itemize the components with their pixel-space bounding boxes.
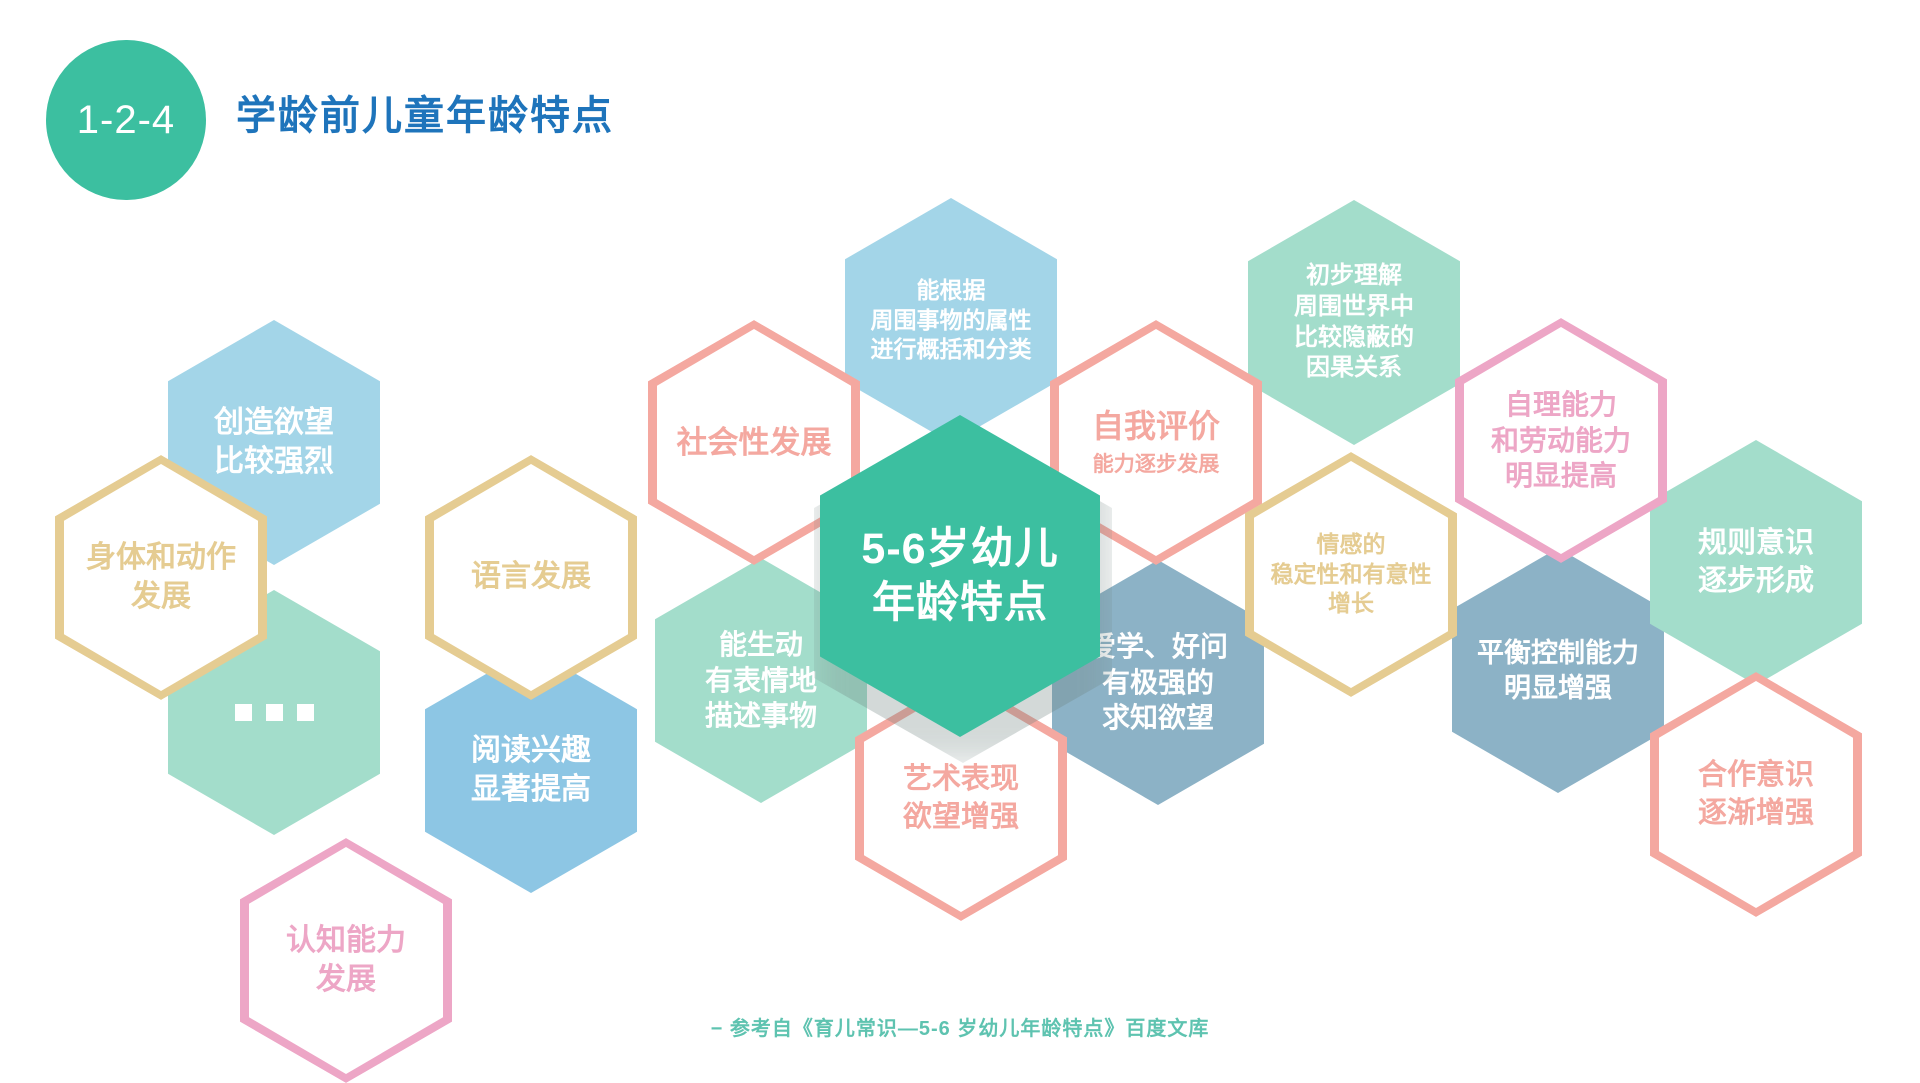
hexagon-label: 合作意识逐渐增强 [1650, 757, 1862, 831]
hexagon-label-line: 描述事物 [705, 700, 817, 731]
center-hexagon-label: 5-6岁幼儿 年龄特点 [861, 522, 1058, 630]
hexagon-label: 身体和动作发展 [55, 539, 267, 616]
hexagon-label-line: 规则意识 [1698, 527, 1814, 559]
hexagon-label-line: 有极强的 [1102, 667, 1214, 698]
hexagon-label-line: 明显增强 [1504, 673, 1612, 703]
hexagon-label-line: 比较强烈 [214, 445, 334, 478]
hexagon-label-line: 能根据 [917, 277, 986, 303]
hexagon-label-line: 有表情地 [705, 665, 817, 696]
hexagon-label-line: 艺术表现 [903, 763, 1019, 795]
hexagon-label-line: 情感的 [1317, 531, 1386, 557]
hexagon-emotional-stability-growth[interactable]: 情感的稳定性和有意性增长 [1245, 452, 1457, 697]
hexagon-label: 初步理解周围世界中比较隐蔽的因果关系 [1248, 261, 1460, 384]
hexagon-understand-hidden-causality[interactable]: 初步理解周围世界中比较隐蔽的因果关系 [1248, 200, 1460, 445]
hexagon-label: 平衡控制能力明显增强 [1452, 636, 1664, 705]
ellipsis-dots-icon [176, 704, 372, 721]
hexagon-label-line: 周围事物的属性 [871, 307, 1032, 333]
hexagon-label-line: 创造欲望 [214, 406, 334, 439]
hexagon-language-development[interactable]: 语言发展 [425, 455, 637, 700]
hexagon-label-line: 自理能力 [1505, 389, 1617, 420]
hexagon-cooperation-awareness-growing[interactable]: 合作意识逐渐增强 [1650, 672, 1862, 917]
center-line-2: 年龄特点 [872, 579, 1048, 627]
hexagon-rule-awareness-forming[interactable]: 规则意识逐步形成 [1650, 440, 1862, 685]
hexagon-label: 社会性发展 [648, 423, 860, 463]
hexagon-label-line: 逐步形成 [1698, 565, 1814, 597]
hexagon-label-line: 自我评价 [1092, 408, 1220, 444]
hexagon-label: 自我评价能力逐步发展 [1050, 406, 1262, 478]
hexagon-cognitive-ability-development[interactable]: 认知能力发展 [240, 838, 452, 1083]
hexagon-label: 语言发展 [425, 558, 637, 596]
hexagon-label-line: 认知能力 [286, 924, 406, 957]
hexagon-generalize-classify-attributes[interactable]: 能根据周围事物的属性进行概括和分类 [845, 198, 1057, 443]
hexagon-label-line: 发展 [316, 963, 376, 996]
hexagon-label: 创造欲望比较强烈 [168, 404, 380, 481]
hexagon-self-care-labor-ability[interactable]: 自理能力和劳动能力明显提高 [1455, 318, 1667, 563]
hexagon-label-line: 周围世界中 [1294, 293, 1414, 320]
hexagon-label-line: 进行概括和分类 [871, 336, 1032, 362]
hexagon-label: 艺术表现欲望增强 [855, 761, 1067, 835]
hexagon-label: 情感的稳定性和有意性增长 [1245, 530, 1457, 618]
hexagon-label-line: 稳定性和有意性 [1271, 561, 1432, 587]
hexagon-label-line: 身体和动作 [86, 541, 236, 574]
hexagon-label-line: 发展 [131, 580, 191, 613]
hexagon-label-line: 比较隐蔽的 [1294, 324, 1414, 351]
hexagon-balance-control-enhanced[interactable]: 平衡控制能力明显增强 [1452, 548, 1664, 793]
hexagon-label: 自理能力和劳动能力明显提高 [1455, 387, 1667, 494]
hexagon-label-line: 社会性发展 [677, 425, 832, 460]
hexagon-diagram: 5-6岁幼儿 年龄特点 身体和动作发展创造欲望比较强烈语言发展阅读兴趣显著提高认… [0, 0, 1920, 1080]
hexagon-label-line: 逐渐增强 [1698, 797, 1814, 829]
hexagon-label-line: 初步理解 [1306, 262, 1402, 289]
hexagon-sublabel: 能力逐步发展 [1058, 451, 1254, 478]
hexagon-label-line: 求知欲望 [1102, 702, 1214, 733]
hexagon-label-line: 显著提高 [471, 773, 591, 806]
hexagon-label-line: 欲望增强 [903, 801, 1019, 833]
hexagon-label-line: 和劳动能力 [1491, 425, 1631, 456]
hexagon-label: 规则意识逐步形成 [1650, 525, 1862, 599]
hexagon-label: 阅读兴趣显著提高 [425, 732, 637, 809]
hexagon-label-line: 增长 [1328, 590, 1374, 616]
hexagon-label-line: 明显提高 [1505, 460, 1617, 491]
hexagon-label [168, 704, 380, 721]
source-citation: − 参考自《育儿常识—5-6 岁幼儿年龄特点》百度文库 [711, 1018, 1210, 1040]
center-line-1: 5-6岁幼儿 [861, 525, 1058, 573]
hexagon-label-line: 平衡控制能力 [1477, 638, 1639, 668]
hexagon-label: 认知能力发展 [240, 922, 452, 999]
hexagon-label-line: 因果关系 [1306, 354, 1402, 381]
hexagon-label-line: 能生动 [719, 629, 803, 660]
hexagon-label-line: 合作意识 [1698, 759, 1814, 791]
hexagon-label: 能根据周围事物的属性进行概括和分类 [845, 276, 1057, 364]
hexagon-label-line: 阅读兴趣 [471, 734, 591, 767]
hexagon-label-line: 语言发展 [471, 560, 591, 593]
